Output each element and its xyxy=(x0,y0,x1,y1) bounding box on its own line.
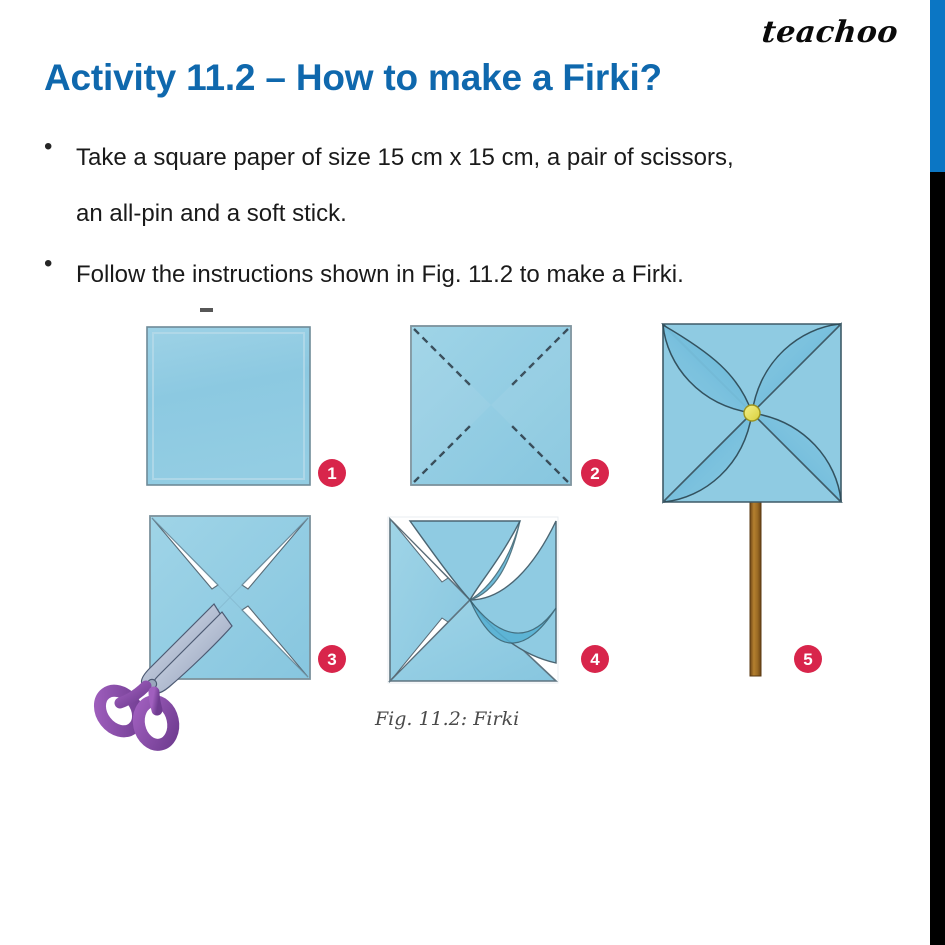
list-item: • Follow the instructions shown in Fig. … xyxy=(40,247,880,303)
bullet-list: • Take a square paper of size 15 cm x 15… xyxy=(40,130,880,303)
teachoo-logo: teachoo xyxy=(760,15,900,50)
list-item-text: Follow the instructions shown in Fig. 11… xyxy=(76,247,880,303)
bullet-marker-icon: • xyxy=(44,130,52,164)
pinwheel-blades xyxy=(663,324,841,502)
step-badge-5: 5 xyxy=(794,645,822,673)
step-5-finished-firki xyxy=(663,324,841,676)
bullet-marker-icon: • xyxy=(44,247,52,281)
step-2-dashed-diagonals xyxy=(411,326,571,485)
pin-center xyxy=(744,405,760,421)
step-3-cut-square xyxy=(150,516,310,679)
scan-artifact-mark xyxy=(200,308,213,312)
scissors-icon xyxy=(92,604,232,748)
step-badge-2: 2 xyxy=(581,459,609,487)
step-badge-3: 3 xyxy=(318,645,346,673)
figure-caption: Fig. 11.2: Firki xyxy=(375,708,519,730)
slide-canvas: teachoo Activity 11.2 – How to make a Fi… xyxy=(0,0,945,945)
page-title: Activity 11.2 – How to make a Firki? xyxy=(44,57,662,99)
edge-accent-bar-blue xyxy=(930,0,945,172)
list-item-text: Take a square paper of size 15 cm x 15 c… xyxy=(76,130,880,242)
step-badge-1: 1 xyxy=(318,459,346,487)
step-4-folded-corners xyxy=(388,517,558,683)
list-item: • Take a square paper of size 15 cm x 15… xyxy=(40,130,880,242)
step-1-plain-square xyxy=(147,327,310,485)
step-badge-4: 4 xyxy=(581,645,609,673)
edge-accent-bar-black xyxy=(930,172,945,945)
cut-slits xyxy=(152,518,308,677)
